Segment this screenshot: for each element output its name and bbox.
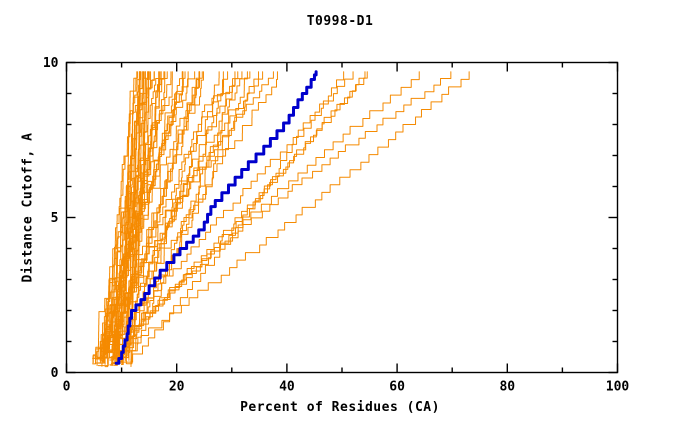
chart-figure: T0998-D1 Percent of Residues (CA) Distan… xyxy=(0,0,680,440)
ensemble-curves-group xyxy=(93,72,470,367)
x-tick-label: 60 xyxy=(389,380,405,395)
x-tick-label: 0 xyxy=(63,380,71,395)
x-tick-label: 100 xyxy=(606,380,630,395)
y-tick-label: 10 xyxy=(43,56,59,71)
plot-canvas: 0204060801000510 xyxy=(0,0,680,440)
y-tick-label: 0 xyxy=(51,366,59,381)
y-tick-label: 5 xyxy=(51,211,59,226)
x-tick-label: 20 xyxy=(169,380,185,395)
x-tick-label: 40 xyxy=(279,380,295,395)
x-tick-label: 80 xyxy=(499,380,515,395)
